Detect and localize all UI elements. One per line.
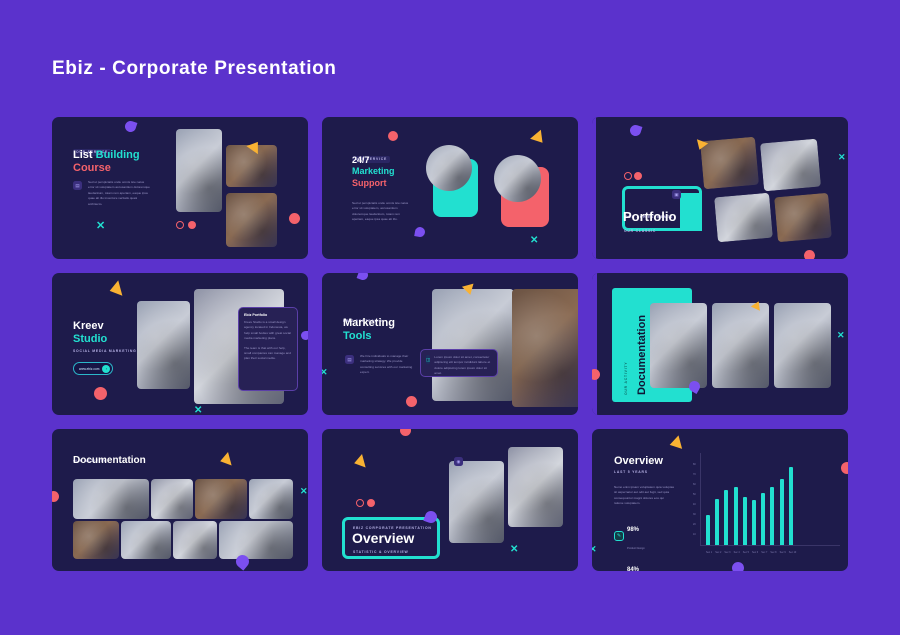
slide4-image-1 <box>137 301 190 389</box>
slide7-image-3 <box>195 479 247 519</box>
slide6-title-wrap: Documentation <box>636 315 648 395</box>
chart-bar <box>706 515 710 545</box>
decor-x-cyan: ✕ <box>530 236 538 246</box>
decor-dot-red <box>388 131 398 141</box>
portfolio-badge-icon: ▣ <box>672 190 681 199</box>
slide2-image-2 <box>494 155 541 202</box>
stat-item: ▦ 84% Product Sales <box>614 558 645 571</box>
decor-triangle-orange <box>668 435 682 451</box>
slide6-image-1 <box>650 303 707 388</box>
chart-y-axis <box>700 453 701 545</box>
decor-triangle-orange <box>108 280 123 298</box>
slide5-card-icon: ◫ <box>426 355 430 364</box>
chart-x-tick-label: Sec 10 <box>789 551 796 554</box>
slide3-image-1 <box>700 137 759 190</box>
slide6-title: Documentation <box>636 315 648 395</box>
chart-bar <box>770 487 774 545</box>
slide1-image-1 <box>176 129 222 212</box>
slide-list-building-course[interactable]: ✕ Our Service List Building Course ▤ Sed… <box>52 117 308 259</box>
slide5-body-card: Lorem ipsum dolor sit amet, consectetur … <box>434 355 492 377</box>
decor-ring-red <box>624 172 632 180</box>
slide-portfolio[interactable]: ✕ ▣ Our Achievements Portfolio Our Class… <box>592 117 848 259</box>
slide4-note-body-2: The team is that with our help, small co… <box>244 346 292 362</box>
decor-edge-left <box>592 273 597 415</box>
portfolio-frame-fill <box>680 193 702 231</box>
slide8-image-1 <box>449 461 504 543</box>
page-title: Ebiz - Corporate Presentation <box>52 58 337 80</box>
chart-y-tick-label: 40 <box>693 503 696 506</box>
chart-x-tick-label: Sec 7 <box>761 551 767 554</box>
slide-overview-banner[interactable]: ✕ Ebiz Corporate Presentation Overview S… <box>322 429 578 571</box>
chart-x-tick-label: Sec 5 <box>743 551 749 554</box>
slide9-stats: ✎ 98% Product Design ▦ 84% Product Sales <box>614 514 645 571</box>
slide4-note-body-1: Kreev Studio is a small design agency lo… <box>244 320 292 342</box>
slide2-image-1 <box>426 145 472 191</box>
decor-dot-red <box>634 172 642 180</box>
slide1-title-word1: List <box>73 149 93 161</box>
slide4-title-line1: Kreev <box>73 320 104 332</box>
slide7-image-7 <box>173 521 217 559</box>
slide3-image-2 <box>760 139 821 192</box>
chart-x-axis <box>700 545 840 546</box>
decor-dot-red <box>406 396 417 407</box>
chart-x-tick-label: Sec 8 <box>770 551 776 554</box>
slide3-title: Portfolio <box>623 210 676 224</box>
decor-ring-red <box>356 499 364 507</box>
chart-bar <box>761 493 765 545</box>
slide9-subtitle: Last 5 Years <box>614 470 648 474</box>
slide1-image-3 <box>226 193 277 247</box>
slide3-image-3 <box>714 193 773 243</box>
slide6-eyebrow-wrap: Our Activity <box>624 362 628 395</box>
decor-triangle-orange <box>530 130 548 147</box>
decor-x-cyan: ✕ <box>838 153 846 162</box>
decor-dot-red-2 <box>367 499 375 507</box>
decor-dot-red <box>592 369 600 380</box>
slide3-image-4 <box>774 193 832 243</box>
arrow-icon[interactable]: › <box>102 365 110 373</box>
slide7-image-8 <box>219 521 293 559</box>
slide3-subtitle: Our Classic <box>624 229 656 233</box>
slide7-title: Documentation <box>73 455 146 466</box>
chart-y-tick-label: 20 <box>693 523 696 526</box>
chart-bar <box>724 490 728 545</box>
slide8-badge-icon: ◉ <box>454 457 463 466</box>
slide1-title-word2: Building <box>96 149 140 161</box>
decor-dot-red <box>841 462 848 474</box>
slide4-website-text: www.ebiz.com <box>79 367 99 371</box>
chart-y-tick-label: 30 <box>693 513 696 516</box>
slide5-badge-icon: ▤ <box>345 355 354 364</box>
slide1-image-2 <box>226 145 277 187</box>
chart-bar <box>752 500 756 545</box>
slide7-image-1 <box>73 479 149 519</box>
slide6-image-2 <box>712 303 769 388</box>
stat-item: ✎ 98% Product Design <box>614 518 645 554</box>
stat-value: 98% <box>627 527 639 533</box>
slide5-title-line1: Marketing <box>343 317 395 329</box>
slide9-title: Overview <box>614 455 663 467</box>
decor-edge-left <box>592 117 596 259</box>
chart-x-tick-label: Sec 2 <box>715 551 721 554</box>
slide4-website-pill[interactable]: www.ebiz.com › <box>73 362 113 375</box>
slide2-title-line2: Marketing <box>352 167 395 177</box>
slide5-body-left: We hire individuals to manage their mark… <box>360 354 415 376</box>
slide-documentation-grid[interactable]: ✕ Our Activity Documentation <box>52 429 308 571</box>
chart-bar <box>789 467 793 545</box>
decor-x-cyan: ✕ <box>194 406 202 415</box>
pen-icon: ✎ <box>614 531 624 541</box>
slide5-image-2 <box>512 289 578 407</box>
slide5-note-card: ◫ Lorem ipsum dolor sit amet, consectetu… <box>420 349 498 377</box>
chart-bar <box>734 487 738 545</box>
slide1-badge-icon: ▤ <box>73 181 82 190</box>
slide5-title-line2: Tools <box>343 330 372 342</box>
slide-marketing-support[interactable]: ✕ Our Service 24/7 Marketing Support Sed… <box>322 117 578 259</box>
slide6-image-3 <box>774 303 831 388</box>
slide2-title-line3: Support <box>352 179 387 189</box>
slide5-image-1 <box>432 289 514 401</box>
decor-triangle-orange <box>218 452 231 468</box>
slide8-image-2 <box>508 447 563 527</box>
slide-grid: ✕ Our Service List Building Course ▤ Sed… <box>52 117 848 575</box>
slide7-image-6 <box>121 521 171 559</box>
slide2-title-line1: 24/7 <box>352 156 370 166</box>
chart-y-tick-label: 70 <box>693 473 696 476</box>
chart-bar <box>780 479 784 545</box>
decor-x-cyan: ✕ <box>510 545 518 555</box>
decor-x-cyan: ✕ <box>592 545 597 554</box>
slide-kreev-studio[interactable]: ✕ Kreev Studio Social Media Marketing Se… <box>52 273 308 415</box>
chart-x-tick-label: Sec 4 <box>734 551 740 554</box>
slide4-note-card: Ebiz Portfolio Kreev Studio is a small d… <box>238 307 298 391</box>
decor-dot-red <box>289 213 300 224</box>
slide4-note-title: Ebiz Portfolio <box>244 313 292 317</box>
chart-bars <box>706 465 793 545</box>
decor-leaf-purple <box>730 560 746 571</box>
slide1-title-line2: Course <box>73 162 111 174</box>
slide-marketing-tools[interactable]: ✕ Ebiz Portfolio Marketing Tools ▤ We hi… <box>322 273 578 415</box>
chart-bar <box>743 497 747 545</box>
slide9-body: Nemo enim ipsam voluptatem quia voluptas… <box>614 485 674 507</box>
decor-leaf-purple <box>357 273 370 281</box>
chart-bar <box>715 499 719 545</box>
slide7-image-2 <box>151 479 193 519</box>
slide7-image-4 <box>249 479 293 519</box>
slide7-image-5 <box>73 521 119 559</box>
slide4-title-line2: Studio <box>73 333 107 345</box>
decor-dot-red <box>400 429 411 436</box>
decor-dot-red-bottom <box>804 250 815 259</box>
slide8-subtitle: Statistic & Overview <box>353 550 409 554</box>
decor-dot-red-small <box>188 221 196 229</box>
decor-leaf-purple <box>301 331 308 340</box>
slide2-body: Sed ut perspiciatis unde omnis iste natu… <box>352 201 410 223</box>
decor-x-cyan: ✕ <box>322 368 328 377</box>
decor-dot-red <box>94 387 107 400</box>
slide-overview-chart[interactable]: ✕ Overview Last 5 Years Nemo enim ipsam … <box>592 429 848 571</box>
overview-bar-chart: 1020304050607080 Sec 1Sec 2Sec 3Sec 4Sec… <box>692 451 842 559</box>
decor-leaf-purple <box>629 124 643 138</box>
chart-y-tick-label: 10 <box>693 533 696 536</box>
chart-y-tick-label: 60 <box>693 483 696 486</box>
chart-x-tick-label: Sec 1 <box>706 551 712 554</box>
slide1-body: Sed ut perspiciatis unde omnis iste natu… <box>88 180 150 207</box>
decor-x-cyan: ✕ <box>96 221 105 232</box>
slide1-title-line1: List Building <box>73 149 140 161</box>
chart-x-tick-label: Sec 3 <box>724 551 730 554</box>
slide-documentation-vertical[interactable]: ✕ Documentation Our Activity <box>592 273 848 415</box>
chart-y-tick-label: 50 <box>693 493 696 496</box>
decor-leaf-purple <box>414 226 426 238</box>
decor-leaf-purple <box>124 120 138 134</box>
decor-x-cyan: ✕ <box>300 487 308 496</box>
decor-dot-red <box>52 491 59 502</box>
presentation-preview-page: Ebiz - Corporate Presentation ✕ Our Serv… <box>0 0 900 635</box>
chart-x-tick-label: Sec 9 <box>780 551 786 554</box>
decor-triangle-orange <box>352 454 365 470</box>
slide6-eyebrow: Our Activity <box>624 362 628 395</box>
stat-value: 84% <box>627 567 639 571</box>
decor-x-cyan: ✕ <box>837 331 845 340</box>
stat-label: Product Design <box>627 547 645 550</box>
slide8-title: Overview <box>352 531 414 546</box>
decor-ring-red <box>176 221 184 229</box>
chart-y-tick-label: 80 <box>693 463 696 466</box>
chart-x-tick-label: Sec 6 <box>752 551 758 554</box>
